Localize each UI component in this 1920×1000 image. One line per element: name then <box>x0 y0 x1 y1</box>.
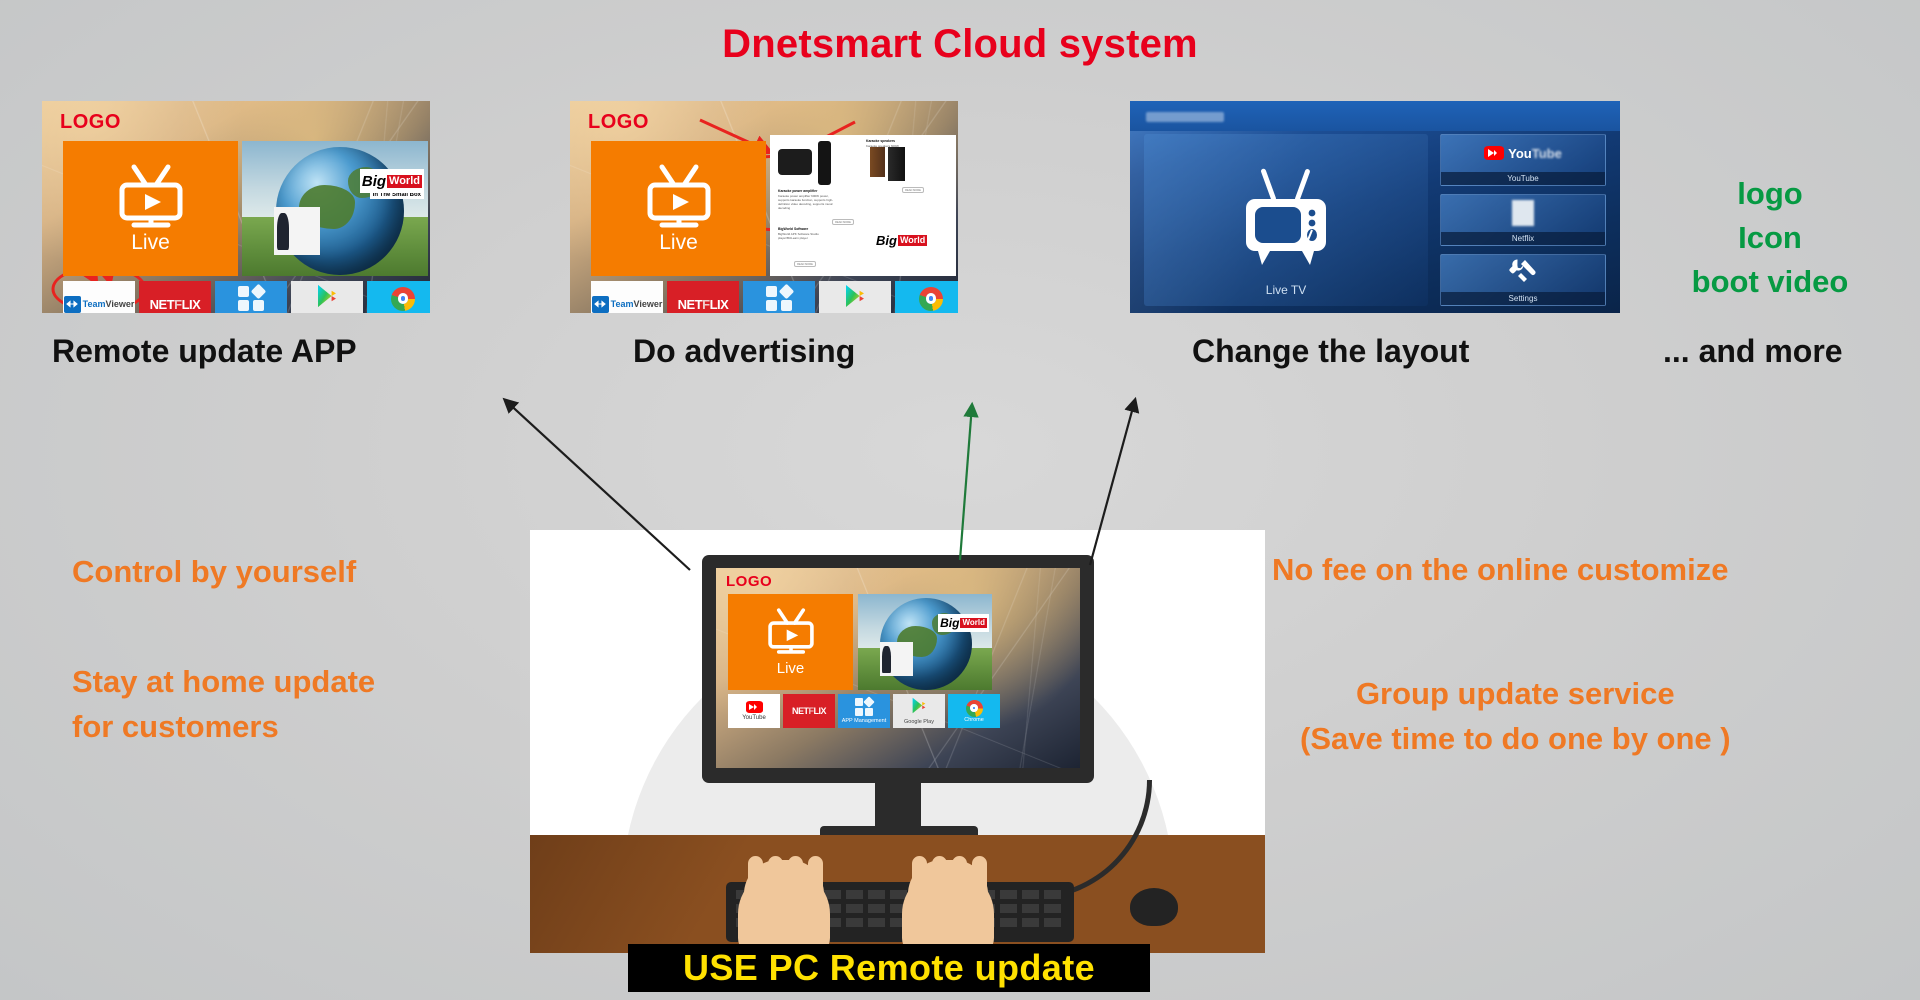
app-tile-app-management[interactable]: APP Management <box>838 694 890 728</box>
page-title: Dnetsmart Cloud system <box>0 22 1920 67</box>
youtube-icon <box>1484 146 1504 160</box>
launcher-tile-netflix[interactable]: Netflix <box>1440 194 1606 246</box>
advertising-page[interactable]: Karaoke power amplifier Karaoke power am… <box>770 135 956 276</box>
monitor-screen[interactable]: LOGO Live <box>716 568 1080 768</box>
monitor-neck <box>875 783 921 831</box>
green-note-line-2: Icon <box>1640 216 1900 260</box>
live-tile[interactable]: Live <box>63 141 238 276</box>
live-tile-label: Live <box>777 660 805 677</box>
apps-grid-icon <box>855 698 873 716</box>
app-tile-app-management[interactable]: APP Management <box>215 281 287 313</box>
green-note-line-1: logo <box>1640 172 1900 216</box>
app-tile-netflix[interactable]: NETFLIX <box>783 694 835 728</box>
netflix-icon <box>1512 200 1534 226</box>
tv-preview-do-advertising[interactable]: LOGO Live <box>570 101 958 313</box>
google-play-icon <box>844 284 866 313</box>
presenter-figure <box>274 207 320 255</box>
bigworld-big: Big <box>876 234 897 247</box>
app-tile-teamviewer[interactable]: TeamViewer <box>63 281 135 313</box>
netflix-icon: NETFLIX <box>150 297 201 312</box>
tv-play-icon <box>636 163 722 229</box>
bigworld-logo: Big World <box>938 614 989 632</box>
launcher-tile-label: YouTube <box>1441 172 1605 185</box>
youtube-icon <box>746 701 763 713</box>
product-1-text: Karaoke power amplifier Karaoke power am… <box>778 189 836 210</box>
teamviewer-icon: TeamViewer <box>592 296 663 313</box>
monitor: LOGO Live <box>702 555 1094 783</box>
bigworld-logo: Big World <box>874 231 929 249</box>
settings-tools-icon <box>1508 257 1538 290</box>
launcher-tile-label: Settings <box>1441 292 1605 305</box>
logo-text: LOGO <box>588 111 649 134</box>
caption-remote-update-app: Remote update APP <box>52 333 357 370</box>
bigworld-big: Big <box>362 174 386 189</box>
app-tile-chrome[interactable]: Chrome <box>367 281 430 313</box>
caption-change-the-layout: Change the layout <box>1192 333 1469 370</box>
app-tile-label: Chrome <box>964 717 984 723</box>
app-dock[interactable]: TeamViewer NETFLIX APP Management <box>63 281 430 313</box>
live-tile-label: Live <box>131 231 170 255</box>
app-tile-label: APP Management <box>842 718 887 724</box>
product-2-text: Karaoke speakers Karaoke speakers 600W <box>866 139 916 148</box>
retro-tv-icon <box>1232 166 1340 275</box>
logo-text: LOGO <box>60 111 121 134</box>
app-tile-google-play[interactable]: Google Play <box>291 281 363 313</box>
caption-do-advertising: Do advertising <box>633 333 855 370</box>
app-tile-chrome[interactable]: Chrome <box>895 281 958 313</box>
app-tile-google-play[interactable]: Google Play <box>819 281 891 313</box>
app-tile-label: Chrome <box>917 313 945 314</box>
app-tile-youtube[interactable]: YouTube <box>728 694 780 728</box>
pc-desk-illustration: LOGO Live <box>530 530 1265 950</box>
apps-grid-icon <box>238 286 264 311</box>
read-more-button-2[interactable]: READ MORE <box>902 187 924 193</box>
teamviewer-icon: TeamViewer <box>64 296 135 313</box>
live-tv-label: Live TV <box>1144 283 1428 297</box>
product-remote-image <box>818 141 831 185</box>
presenter-figure <box>880 642 913 676</box>
tv-preview-change-the-layout[interactable]: Live TV YouTube YouTube Netflix Sett <box>1130 101 1620 313</box>
note-stay-at-home-update: Stay at home update for customers <box>72 660 375 750</box>
bigworld-logo: Big World <box>360 169 424 193</box>
tv-preview-remote-update-app[interactable]: LOGO Live <box>42 101 430 313</box>
read-more-button-3[interactable]: READ MORE <box>794 261 816 267</box>
mouse[interactable] <box>1130 888 1178 926</box>
app-tile-label: YouTube <box>742 715 766 721</box>
app-tile-app-management[interactable]: APP Management <box>743 281 815 313</box>
app-tile-netflix[interactable]: NETFLIX <box>667 281 739 313</box>
app-tile-teamviewer[interactable]: TeamViewer <box>591 281 663 313</box>
live-tile[interactable]: Live <box>728 594 853 690</box>
topbar-title-blur <box>1146 112 1224 122</box>
app-dock[interactable]: YouTube NETFLIX APP Management <box>728 694 1000 728</box>
note-group-update-service: Group update service (Save time to do on… <box>1300 672 1731 762</box>
bigworld-world: World <box>960 618 987 628</box>
promo-media-tile[interactable]: Big World <box>858 594 992 690</box>
note-control-by-yourself: Control by yourself <box>72 550 356 595</box>
app-tile-google-play[interactable]: Google Play <box>893 694 945 728</box>
app-tile-chrome[interactable]: Chrome <box>948 694 1000 728</box>
app-tile-label: Google Play <box>904 719 934 725</box>
app-dock[interactable]: TeamViewer NETFLIX APP Management <box>591 281 958 313</box>
live-tile[interactable]: Live <box>591 141 766 276</box>
bigworld-world: World <box>387 175 422 188</box>
bigworld-world: World <box>898 235 927 246</box>
tv-play-icon <box>108 163 194 229</box>
green-note-line-3: boot video <box>1640 260 1900 304</box>
caption-and-more: ... and more <box>1663 333 1843 370</box>
chrome-icon <box>391 287 415 311</box>
read-more-button[interactable]: READ MORE <box>832 219 854 225</box>
live-tile-label: Live <box>659 231 698 255</box>
chrome-icon <box>966 700 983 717</box>
green-note: logo Icon boot video <box>1640 172 1900 304</box>
google-play-icon <box>911 697 927 719</box>
product-box-image <box>778 149 812 175</box>
use-pc-remote-update-banner: USE PC Remote update <box>628 944 1150 992</box>
chrome-icon <box>919 287 943 311</box>
app-tile-netflix[interactable]: NETFLIX <box>139 281 211 313</box>
google-play-icon <box>316 284 338 313</box>
launcher-tile-label: Netflix <box>1441 232 1605 245</box>
tv-play-icon <box>760 607 822 660</box>
bigworld-big: Big <box>940 617 959 629</box>
app-tile-label: Chrome <box>389 313 417 314</box>
netflix-icon: NETFLIX <box>678 297 729 312</box>
launcher-tile-youtube[interactable]: YouTube YouTube <box>1440 134 1606 186</box>
launcher-tile-settings[interactable]: Settings <box>1440 254 1606 306</box>
promo-media-tile[interactable]: Big World In The Small Box <box>242 141 428 276</box>
product-speakers-image <box>870 147 905 181</box>
live-tv-main-tile[interactable]: Live TV <box>1144 134 1428 306</box>
apps-grid-icon <box>766 286 792 311</box>
product-3-text: BigWorld Software BigWorld APK Software … <box>778 227 840 240</box>
note-no-fee-online-customize: No fee on the online customize <box>1272 548 1728 593</box>
logo-text: LOGO <box>726 573 772 590</box>
netflix-icon: NETFLIX <box>792 706 826 716</box>
